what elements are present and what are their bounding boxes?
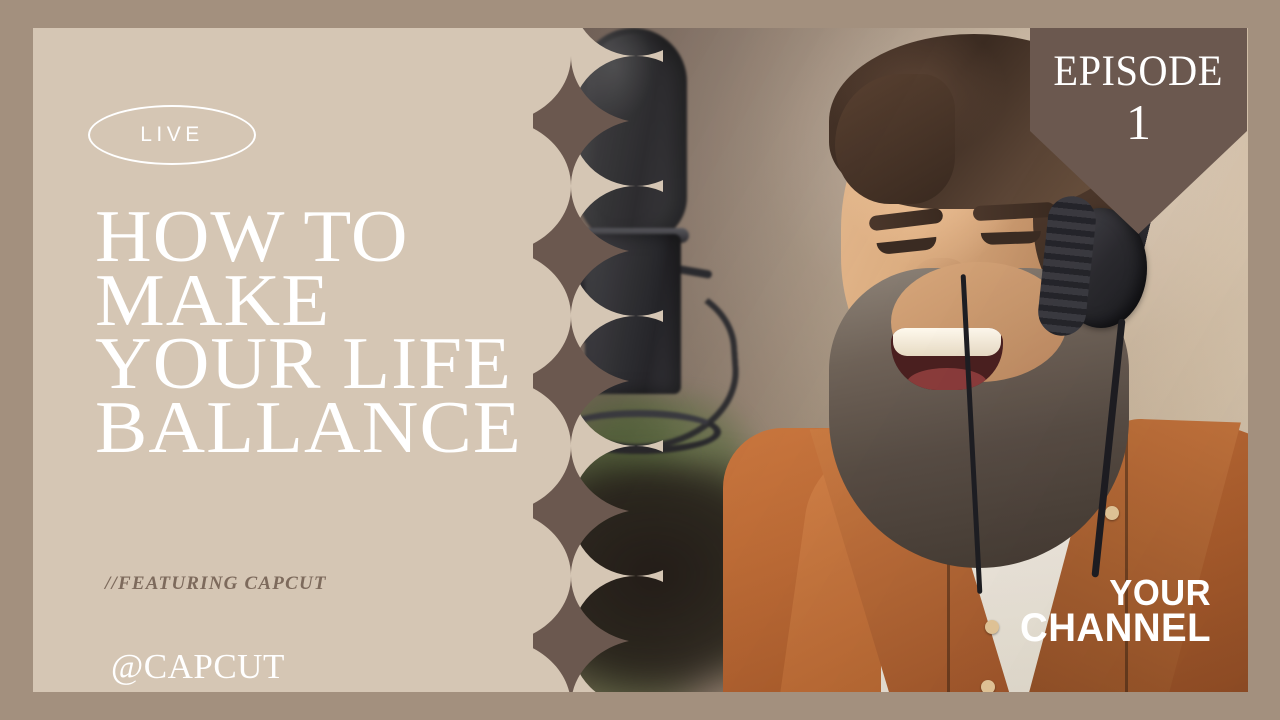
featuring-credit: //FEATURING CAPCUT [105, 573, 327, 595]
live-badge-label: LIVE [140, 123, 204, 147]
star-decoration-group [533, 28, 683, 692]
channel-line-1: YOUR [1020, 576, 1211, 609]
headline-line-4: BALLANCE [95, 397, 551, 461]
episode-number: 1 [1126, 95, 1151, 150]
episode-label: EPISODE [1054, 50, 1223, 93]
channel-line-2: CHANNEL [1020, 610, 1211, 647]
page-title: HOW TO MAKE YOUR LIFE BALLANCE [95, 206, 551, 461]
social-handle: @CAPCUT [111, 647, 285, 687]
thumbnail-card: LIVE HOW TO MAKE YOUR LIFE BALLANCE //FE… [33, 28, 1248, 692]
channel-name: YOUR CHANNEL [1016, 576, 1215, 647]
live-badge: LIVE [88, 105, 256, 165]
thumbnail-canvas: LIVE HOW TO MAKE YOUR LIFE BALLANCE //FE… [0, 0, 1280, 720]
